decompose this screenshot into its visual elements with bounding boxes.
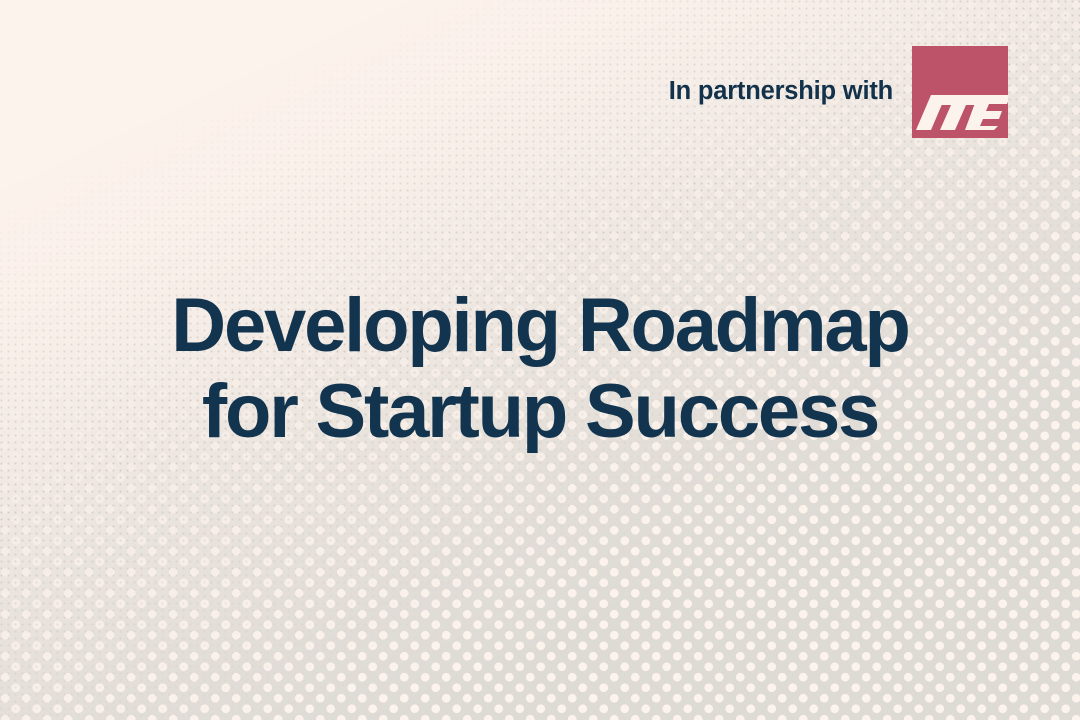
title-slide: In partnership with Developing Roadmap f…	[0, 0, 1080, 720]
partnership-label: In partnership with	[669, 79, 893, 105]
ite-logo	[912, 46, 1008, 138]
ite-logo-mark-icon	[912, 46, 1008, 138]
page-title-line-1: Developing Roadmap	[60, 283, 1020, 369]
page-title: Developing Roadmap for Startup Success	[0, 283, 1080, 456]
page-title-line-2: for Startup Success	[60, 369, 1020, 455]
partnership-banner: In partnership with	[669, 46, 1008, 138]
